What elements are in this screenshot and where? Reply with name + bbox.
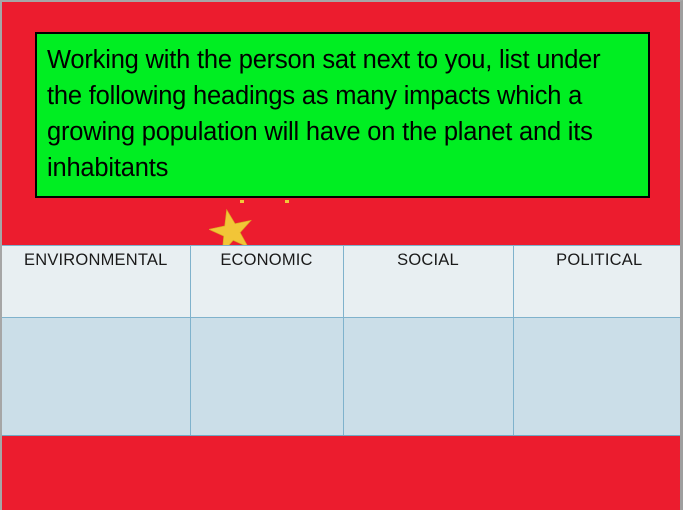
table-header-row: ENVIRONMENTAL ECONOMIC SOCIAL POLITICAL: [2, 246, 683, 318]
instruction-text: Working with the person sat next to you,…: [47, 42, 638, 186]
slide-canvas: Working with the person sat next to you,…: [0, 0, 683, 510]
column-header-environmental[interactable]: ENVIRONMENTAL: [2, 246, 190, 318]
cell-political[interactable]: [513, 318, 683, 436]
headings-table: ENVIRONMENTAL ECONOMIC SOCIAL POLITICAL: [2, 245, 683, 436]
cell-social[interactable]: [343, 318, 513, 436]
column-header-social[interactable]: SOCIAL: [343, 246, 513, 318]
cell-environmental[interactable]: [2, 318, 190, 436]
star-fragment-artifact-left: [240, 200, 244, 203]
star-fragment-artifact-right: [285, 200, 289, 203]
instruction-text-box[interactable]: Working with the person sat next to you,…: [35, 32, 650, 198]
column-header-economic[interactable]: ECONOMIC: [190, 246, 343, 318]
cell-economic[interactable]: [190, 318, 343, 436]
column-header-political[interactable]: POLITICAL: [513, 246, 683, 318]
table-row: [2, 318, 683, 436]
